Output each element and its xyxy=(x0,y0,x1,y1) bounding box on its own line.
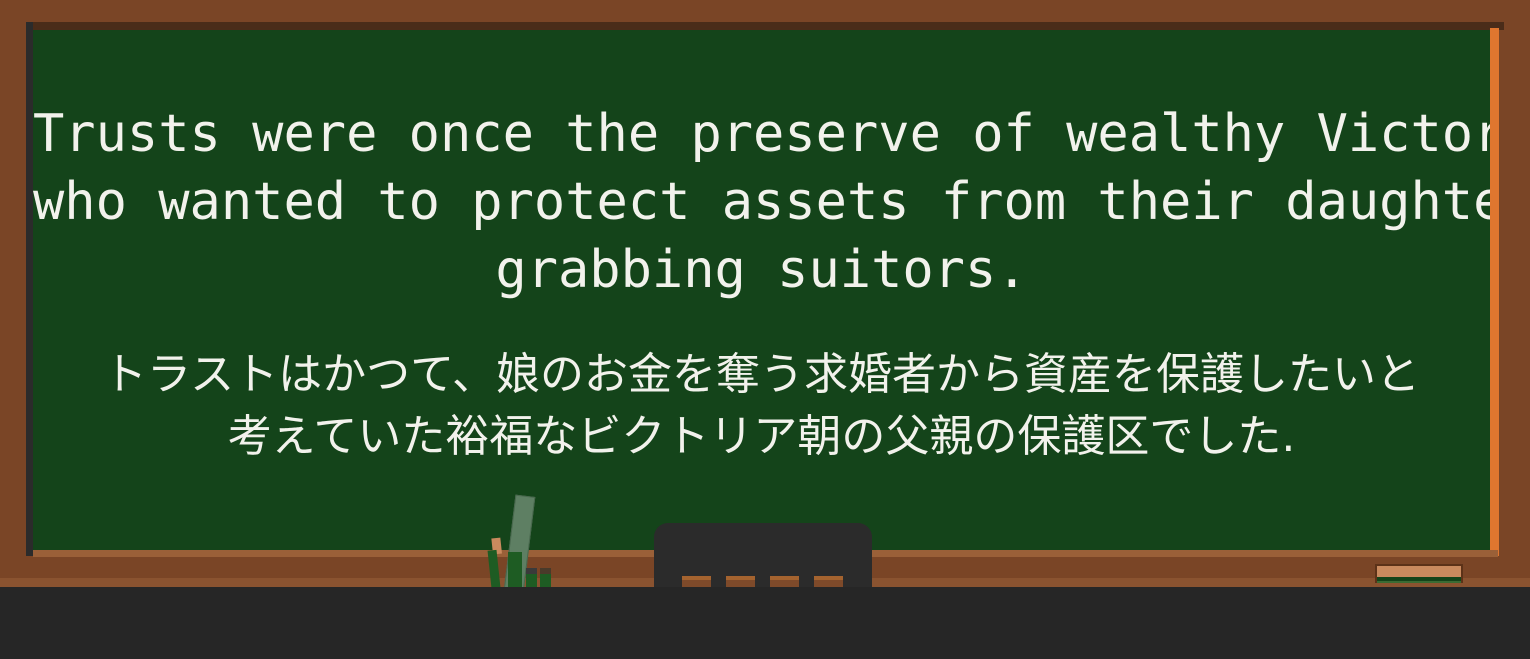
chalkboard-scene: Trusts were once the preserve of wealthy… xyxy=(0,0,1530,659)
english-line-3: grabbing suitors. xyxy=(33,236,1490,304)
japanese-text-block: トラストはかつて、娘のお金を奪う求婚者から資産を保護したいと 考えていた裕福なビ… xyxy=(33,304,1490,468)
eraser-felt xyxy=(1377,577,1461,583)
frame-bevel-top xyxy=(26,22,1504,30)
board-text-container: Trusts were once the preserve of wealthy… xyxy=(33,30,1490,468)
english-text-block: Trusts were once the preserve of wealthy… xyxy=(33,30,1490,304)
japanese-line-1: トラストはかつて、娘のお金を奪う求婚者から資産を保護したいと xyxy=(33,344,1490,406)
english-line-1: Trusts were once the preserve of wealthy… xyxy=(33,100,1490,168)
english-line-2: who wanted to protect assets from their … xyxy=(33,168,1490,236)
floor-background xyxy=(0,587,1530,659)
frame-bevel-left xyxy=(26,22,33,556)
frame-bevel-right xyxy=(1490,28,1499,556)
japanese-line-2: 考えていた裕福なビクトリア朝の父親の保護区でした. xyxy=(33,406,1490,468)
blackboard-surface: Trusts were once the preserve of wealthy… xyxy=(33,30,1490,550)
